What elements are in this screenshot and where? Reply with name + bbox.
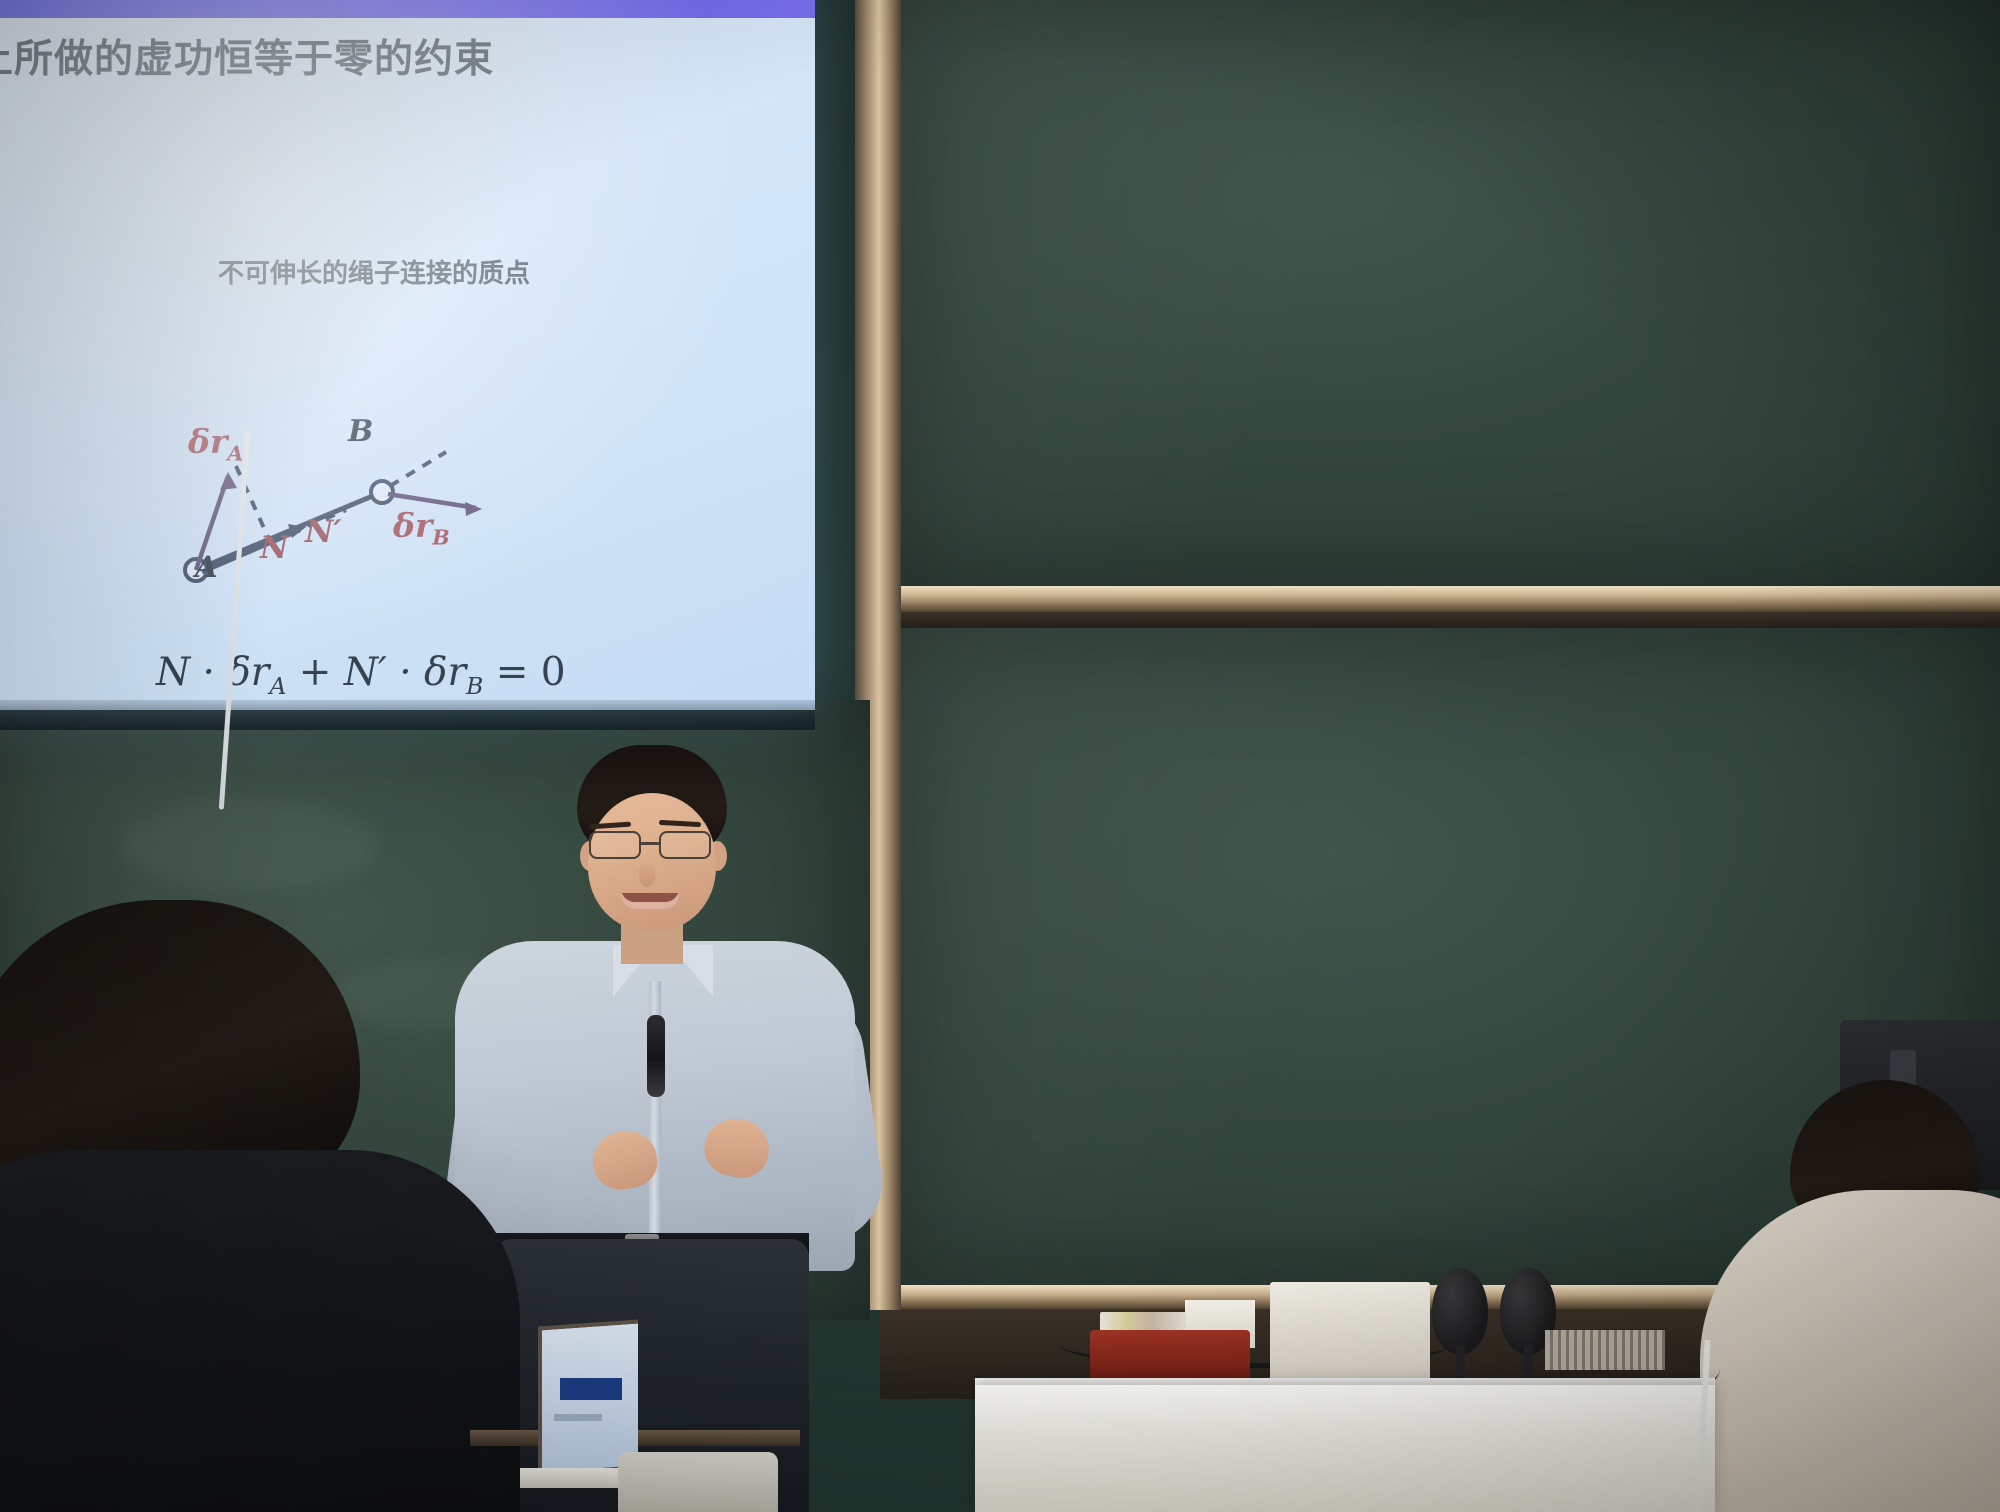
projection-screen-bottom-shadow [0,700,815,730]
glasses-icon [583,831,723,861]
figure-label-delta-r-a: δrA [188,422,243,466]
slide-title: 理想约束 [135,0,565,2]
slide-figure-diagram: δrA δrB N N′ A B [150,430,620,630]
formula-sub-b: B [466,672,483,700]
lecturer-face [588,793,716,931]
lecturer [555,745,975,1305]
chalk-smudge-a [120,800,380,890]
formula-sub-a: A [269,672,286,700]
projection-screen: 理想约束 移上所做的虚功恒等于零的约束 0 0 不可伸长的绳子连接的质点 [0,0,815,710]
student-left-body [0,1150,520,1512]
slide-figure-caption: 不可伸长的绳子连接的质点 [218,256,548,293]
figure-label-n: N [260,530,288,566]
glasses-bridge [641,842,659,845]
student-foreground-right [1770,1080,2000,1512]
figure-node-label-a: A [195,550,218,584]
laptop-screen-highlight-bar [560,1378,622,1400]
clip-microphone-icon [647,1015,665,1097]
figure-node-label-b: B [348,414,373,449]
slide-formula: N · δrA + N′ · δrB = 0 [156,650,576,700]
podium-monitor[interactable] [1270,1282,1430,1382]
lectern [975,1385,1715,1512]
blackboard-rail-middle-shadow [880,612,2000,628]
lecturer-nose [639,863,655,887]
formula-part-1: N · δr [156,650,269,695]
laptop-screen-text-line [554,1414,602,1421]
glasses-lens-left [589,831,641,859]
figure-label-n-prime: N′ [305,514,342,550]
formula-part-3: = 0 [483,650,565,695]
slide-body-line: 移上所做的虚功恒等于零的约束 [0,28,494,84]
chair-back [618,1452,778,1512]
glasses-lens-right [659,831,711,859]
student-foreground-left [0,900,520,1512]
blackboard-rail-middle [880,586,2000,612]
formula-part-2: + N′ · δr [286,650,466,695]
blackboard-panel-upper-right [898,0,2000,590]
lecture-hall-scene: 理想约束 移上所做的虚功恒等于零的约束 0 0 不可伸长的绳子连接的质点 [0,0,2000,1512]
podium-microphone-a[interactable] [1432,1268,1488,1354]
figure-label-delta-r-b: δrB [393,506,450,550]
slide-banner [0,0,815,18]
lecturer-mouth [621,893,679,909]
